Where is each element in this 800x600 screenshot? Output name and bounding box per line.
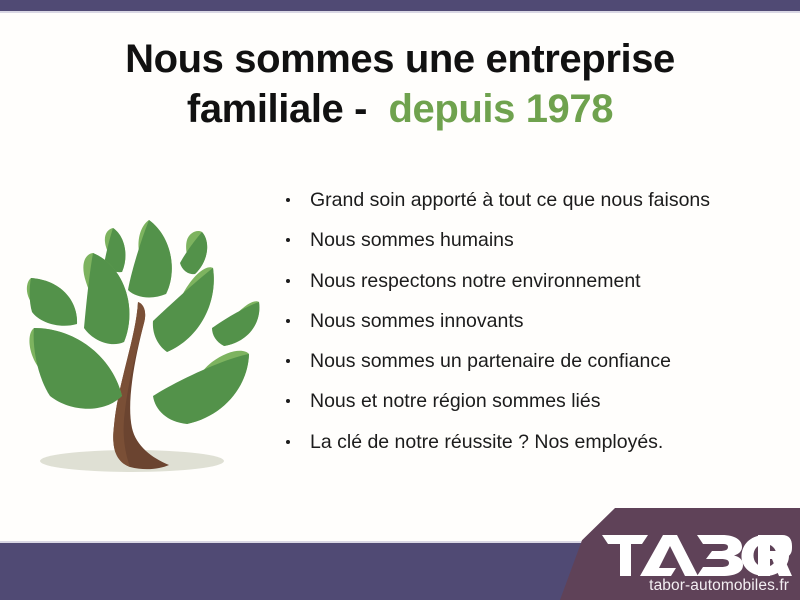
list-item: Nous sommes humains <box>284 230 784 250</box>
title-line-1: Nous sommes une entreprise <box>0 34 800 84</box>
list-item-label: Nous respectons notre environnement <box>310 270 641 292</box>
list-item-label: Nous sommes innovants <box>310 310 524 332</box>
bullet-dot-icon <box>286 198 290 202</box>
slide-canvas: Nous sommes une entreprise familiale - d… <box>0 0 800 600</box>
leaf-lower-right <box>153 351 249 424</box>
page-title: Nous sommes une entreprise familiale - d… <box>0 34 800 134</box>
list-item: Nous sommes innovants <box>284 311 784 331</box>
bullet-dot-icon <box>286 440 290 444</box>
list-item: La clé de notre réussite ? Nos employés. <box>284 432 784 452</box>
top-accent-band <box>0 0 800 13</box>
title-dash: - <box>354 87 367 131</box>
list-item-label: La clé de notre réussite ? Nos employés. <box>310 431 663 453</box>
title-line-2-prefix: familiale <box>187 87 343 131</box>
value-list: Grand soin apporté à tout ce que nous fa… <box>284 190 784 452</box>
tree-illustration <box>12 178 277 490</box>
bullet-dot-icon <box>286 238 290 242</box>
list-item-label: Nous sommes un partenaire de confiance <box>310 350 671 372</box>
bullet-dot-icon <box>286 399 290 403</box>
title-line-2: familiale - depuis 1978 <box>0 84 800 134</box>
list-item: Nous respectons notre environnement <box>284 271 784 291</box>
leaf-top-right-small <box>180 231 207 274</box>
bullet-dot-icon <box>286 319 290 323</box>
bullet-dot-icon <box>286 279 290 283</box>
logo-banner <box>560 508 800 600</box>
leaf-far-right <box>212 301 259 346</box>
leaf-far-left <box>27 278 77 326</box>
list-item-label: Nous et notre région sommes liés <box>310 390 600 412</box>
leaf-top-center <box>126 220 172 297</box>
list-item-label: Grand soin apporté à tout ce que nous fa… <box>310 189 710 211</box>
title-accent: depuis 1978 <box>388 87 613 131</box>
bullet-dot-icon <box>286 359 290 363</box>
list-item-label: Nous sommes humains <box>310 229 514 251</box>
list-item: Nous et notre région sommes liés <box>284 391 784 411</box>
list-item: Grand soin apporté à tout ce que nous fa… <box>284 190 784 210</box>
list-item: Nous sommes un partenaire de confiance <box>284 351 784 371</box>
